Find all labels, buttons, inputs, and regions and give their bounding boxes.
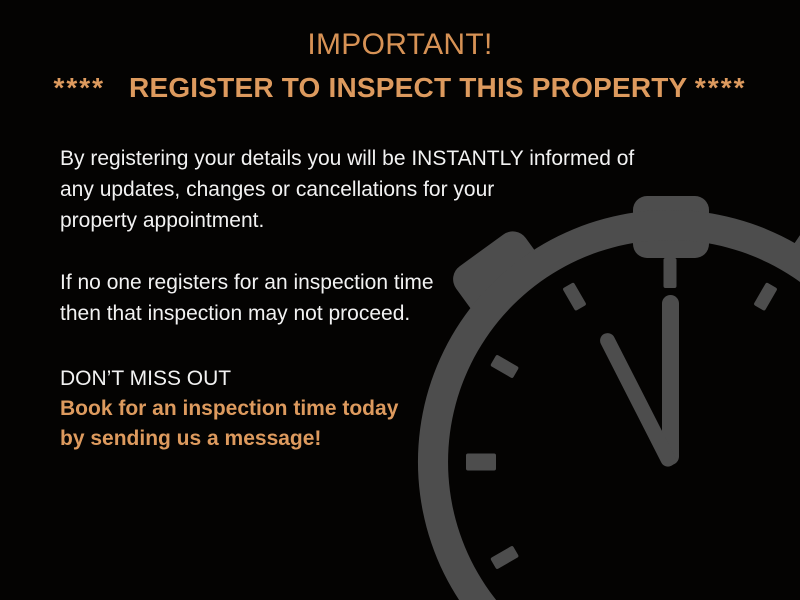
page-subtitle-label: REGISTER TO INSPECT THIS PROPERTY (129, 72, 687, 103)
stars-right: **** (695, 72, 747, 103)
call-to-action-block: DON’T MISS OUT Book for an inspection ti… (60, 364, 540, 454)
cta-send-message: by sending us a message! (60, 424, 540, 454)
paragraph-noone-line-1: If no one registers for an inspection ti… (60, 267, 720, 298)
page-title: IMPORTANT! (0, 26, 800, 64)
paragraph-registering-line-1: By registering your details you will be … (60, 143, 720, 174)
body-block: By registering your details you will be … (60, 143, 720, 329)
page-subtitle: **** REGISTER TO INSPECT THIS PROPERTY *… (0, 68, 800, 108)
cta-dont-miss-out: DON’T MISS OUT (60, 364, 540, 394)
heading-block: IMPORTANT! **** REGISTER TO INSPECT THIS… (0, 26, 800, 108)
paragraph-registering-line-3: property appointment. (60, 205, 720, 236)
paragraph-registering-line-2: any updates, changes or cancellations fo… (60, 174, 720, 205)
stars-left: **** (53, 72, 105, 103)
slide-content: IMPORTANT! **** REGISTER TO INSPECT THIS… (0, 0, 800, 600)
cta-book-inspection: Book for an inspection time today (60, 394, 540, 424)
paragraph-noone-line-2: then that inspection may not proceed. (60, 298, 720, 329)
slide-canvas: IMPORTANT! **** REGISTER TO INSPECT THIS… (0, 0, 800, 600)
